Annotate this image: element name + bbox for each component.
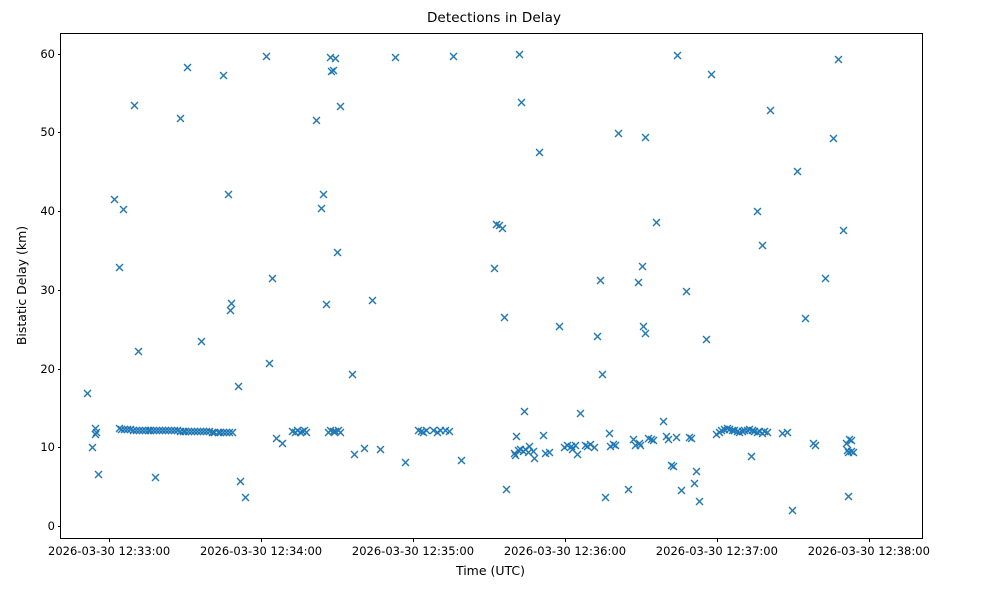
scatter-point [695,497,704,506]
scatter-point [545,448,554,457]
scatter-point [265,359,274,368]
scatter-point [376,445,385,454]
y-tick-label: 50 [40,125,55,139]
scatter-point [743,426,752,435]
scatter-point [571,441,580,450]
scatter-point [110,195,119,204]
scatter-point [222,428,231,437]
scatter-point [226,306,235,315]
y-tick-mark [58,211,62,212]
scatter-point [187,427,196,436]
scatter-point [586,440,595,449]
scatter-point [322,300,331,309]
y-tick-mark [58,369,62,370]
scatter-point [327,67,336,76]
scatter-point [510,449,519,458]
scatter-point [690,479,699,488]
scatter-point [216,428,225,437]
scatter-point [649,436,658,445]
scatter-point [219,428,228,437]
scatter-point [573,450,582,459]
x-axis-label: Time (UTC) [60,563,921,578]
scatter-point [641,133,650,142]
scatter-point [590,443,599,452]
x-tick-mark [565,538,566,542]
scatter-point [184,427,193,436]
scatter-point [677,486,686,495]
scatter-point [568,445,577,454]
scatter-point [138,426,147,435]
scatter-point [606,442,615,451]
scatter-point [717,426,726,435]
scatter-point [173,426,182,435]
scatter-point [593,332,602,341]
scatter-point [638,262,647,271]
scatter-point [495,221,504,230]
scatter-point [809,439,818,448]
y-axis-label: Bistatic Delay (km) [14,33,30,537]
y-tick-label: 10 [40,440,55,454]
scatter-point [134,347,143,356]
scatter-point [712,430,721,439]
scatter-point [334,426,343,435]
x-tick-label: 2026-03-30 12:37:00 [656,544,778,558]
scatter-point [515,50,524,59]
y-tick-label: 40 [40,204,55,218]
scatter-point [529,447,538,456]
scatter-point [176,427,185,436]
scatter-layer [61,34,922,538]
scatter-point [202,427,211,436]
scatter-point [88,443,97,452]
scatter-point [760,427,769,436]
scatter-point [563,441,572,450]
scatter-point [224,190,233,199]
scatter-point [300,426,309,435]
scatter-point [433,428,442,437]
scatter-point [723,424,732,433]
y-axis-label-text: Bistatic Delay (km) [15,225,30,344]
scatter-point [457,456,466,465]
scatter-point [419,428,428,437]
scatter-point [845,435,854,444]
scatter-point [241,493,250,502]
scatter-point [659,417,668,426]
y-tick-label: 60 [40,47,55,61]
scatter-point [293,426,302,435]
scatter-point [652,218,661,227]
scatter-point [512,432,521,441]
scatter-point [291,428,300,437]
scatter-point [583,442,592,451]
scatter-point [636,441,645,450]
scatter-point [576,409,585,418]
scatter-point [193,427,202,436]
scatter-point [502,485,511,494]
scatter-point [146,426,155,435]
scatter-point [83,389,92,398]
scatter-point [152,426,161,435]
scatter-point [164,426,173,435]
scatter-point [219,71,228,80]
scatter-point [702,335,711,344]
scatter-point [847,436,856,445]
scatter-point [302,428,311,437]
scatter-point [730,426,739,435]
scatter-point [519,447,528,456]
scatter-point [793,167,802,176]
scatter-point [728,426,737,435]
y-tick-label: 20 [40,362,55,376]
scatter-point [747,452,756,461]
scatter-point [176,114,185,123]
scatter-point [326,53,335,62]
scatter-point [669,462,678,471]
scatter-point [740,426,749,435]
scatter-point [151,473,160,482]
scatter-point [605,429,614,438]
figure: Detections in Delay Bistatic Delay (km) … [0,0,988,590]
scatter-point [842,439,851,448]
y-tick-mark [58,290,62,291]
scatter-point [234,382,243,391]
scatter-point [753,428,762,437]
y-tick-label: 0 [48,519,55,533]
scatter-point [639,322,648,331]
scatter-point [181,427,190,436]
scatter-point [829,134,838,143]
scatter-point [391,53,400,62]
scatter-point [847,447,856,456]
scatter-point [141,426,150,435]
scatter-point [783,428,792,437]
scatter-point [129,426,138,435]
scatter-point [517,98,526,107]
scatter-point [296,428,305,437]
scatter-point [539,431,548,440]
x-tick-label: 2026-03-30 12:34:00 [200,544,322,558]
scatter-point [348,370,357,379]
scatter-point [490,264,499,273]
scatter-point [422,426,431,435]
scatter-point [629,435,638,444]
scatter-point [758,429,767,438]
scatter-point [725,425,734,434]
scatter-point [197,337,206,346]
scatter-point [524,448,533,457]
scatter-point [514,446,523,455]
y-tick-mark [58,132,62,133]
scatter-point [417,427,426,436]
scatter-point [614,129,623,138]
scatter-point [516,445,525,454]
plot-axes: 0102030405060 2026-03-30 12:33:002026-03… [60,33,923,539]
scatter-point [778,429,787,438]
scatter-point [144,426,153,435]
scatter-point [331,54,340,63]
scatter-point [336,428,345,437]
scatter-point [117,425,126,434]
scatter-point [298,427,307,436]
scatter-point [511,451,520,460]
scatter-point [350,450,359,459]
scatter-point [541,449,550,458]
scatter-point [801,314,810,323]
scatter-point [319,190,328,199]
scatter-point [360,444,369,453]
scatter-point [672,433,681,442]
y-tick-label: 30 [40,283,55,297]
scatter-point [624,485,633,494]
scatter-point [601,493,610,502]
scatter-point [336,102,345,111]
scatter-point [647,435,656,444]
scatter-point [183,63,192,72]
scatter-point [596,276,605,285]
scatter-point [368,296,377,305]
scatter-point [205,427,214,436]
scatter-point [161,426,170,435]
scatter-point [811,441,820,450]
x-tick-mark [717,538,718,542]
scatter-point [609,440,618,449]
y-tick-mark [58,526,62,527]
scatter-point [115,424,124,433]
scatter-point [763,428,772,437]
scatter-point [179,427,188,436]
scatter-point [821,274,830,283]
scatter-point [120,425,129,434]
y-tick-mark [58,447,62,448]
scatter-point [692,467,701,476]
scatter-point [401,458,410,467]
scatter-point [844,492,853,501]
scatter-point [445,427,454,436]
scatter-point [130,101,139,110]
scatter-point [208,428,217,437]
scatter-point [441,426,450,435]
scatter-point [682,287,691,296]
y-tick-mark [58,54,62,55]
scatter-point [849,448,858,457]
scatter-point [498,224,507,233]
scatter-point [91,424,100,433]
scatter-point [634,278,643,287]
scatter-point [631,441,640,450]
scatter-point [288,427,297,436]
x-tick-label: 2026-03-30 12:36:00 [504,544,626,558]
scatter-point [210,428,219,437]
scatter-point [673,51,682,60]
scatter-point [644,434,653,443]
scatter-point [115,263,124,272]
scatter-point [333,248,342,257]
x-tick-mark [261,538,262,542]
x-tick-label: 2026-03-30 12:38:00 [808,544,930,558]
scatter-point [155,426,164,435]
scatter-point [170,426,179,435]
scatter-point [236,477,245,486]
scatter-point [667,461,676,470]
scatter-point [429,426,438,435]
scatter-point [158,426,167,435]
scatter-point [745,425,754,434]
x-tick-mark [869,538,870,542]
scatter-point [329,66,338,75]
scatter-point [687,434,696,443]
scatter-point [535,148,544,157]
scatter-point [500,313,509,322]
scatter-point [685,433,694,442]
scatter-point [839,226,848,235]
scatter-point [715,428,724,437]
scatter-point [748,426,757,435]
scatter-point [520,407,529,416]
scatter-point [317,204,326,213]
scatter-point [225,428,234,437]
scatter-point [753,207,762,216]
scatter-point [126,425,135,434]
scatter-point [525,442,534,451]
scatter-point [662,432,671,441]
scatter-point [331,427,340,436]
scatter-point [641,329,650,338]
scatter-point [707,70,716,79]
scatter-point [555,322,564,331]
scatter-point [449,52,458,61]
scatter-point [834,55,843,64]
scatter-point [326,426,335,435]
scatter-point [750,427,759,436]
scatter-point [738,427,747,436]
scatter-point [312,116,321,125]
scatter-point [766,106,775,115]
scatter-point [119,205,128,214]
scatter-point [167,426,176,435]
scatter-point [91,430,100,439]
scatter-point [788,506,797,515]
scatter-point [123,425,132,434]
scatter-point [664,435,673,444]
scatter-point [272,434,281,443]
scatter-point [844,448,853,457]
scatter-point [635,439,644,448]
scatter-point [598,370,607,379]
scatter-point [214,428,223,437]
scatter-point [262,52,271,61]
scatter-point [581,441,590,450]
scatter-point [268,274,277,283]
scatter-point [135,426,144,435]
scatter-point [414,426,423,435]
scatter-point [843,446,852,455]
scatter-point [560,443,569,452]
x-tick-label: 2026-03-30 12:33:00 [48,544,170,558]
scatter-point [227,299,236,308]
scatter-point [324,428,333,437]
scatter-point [329,427,338,436]
x-tick-label: 2026-03-30 12:35:00 [352,544,474,558]
scatter-point [132,426,141,435]
scatter-point [492,220,501,229]
scatter-point [735,428,744,437]
scatter-point [521,445,530,454]
scatter-point [94,470,103,479]
scatter-point [758,241,767,250]
x-tick-mark [109,538,110,542]
scatter-point [720,425,729,434]
scatter-point [228,428,237,437]
scatter-point [611,441,620,450]
scatter-point [199,427,208,436]
x-tick-mark [413,538,414,542]
scatter-point [530,454,539,463]
scatter-point [567,442,576,451]
scatter-point [190,427,199,436]
scatter-point [755,427,764,436]
scatter-point [149,426,158,435]
scatter-point [196,427,205,436]
chart-title: Detections in Delay [0,10,988,26]
scatter-point [92,428,101,437]
scatter-point [436,426,445,435]
scatter-point [733,427,742,436]
scatter-point [278,439,287,448]
